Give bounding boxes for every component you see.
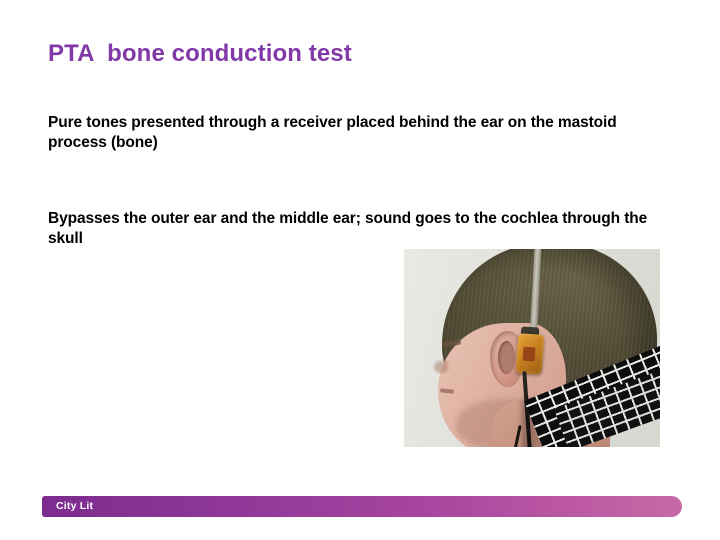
bone-conduction-photo — [404, 249, 660, 447]
photo-nose — [434, 361, 448, 373]
photo-ear-canal — [498, 341, 515, 374]
photo-vibrator-core — [523, 347, 536, 362]
footer-bar: City Lit — [42, 496, 682, 517]
body-paragraph-2: Bypasses the outer ear and the middle ea… — [48, 209, 658, 249]
body-paragraph-1: Pure tones presented through a receiver … — [48, 113, 658, 153]
photo-content — [404, 249, 660, 447]
footer-brand-label: City Lit — [56, 496, 93, 517]
page-title: PTA bone conduction test — [48, 40, 668, 68]
slide: PTA bone conduction test Pure tones pres… — [0, 0, 720, 540]
